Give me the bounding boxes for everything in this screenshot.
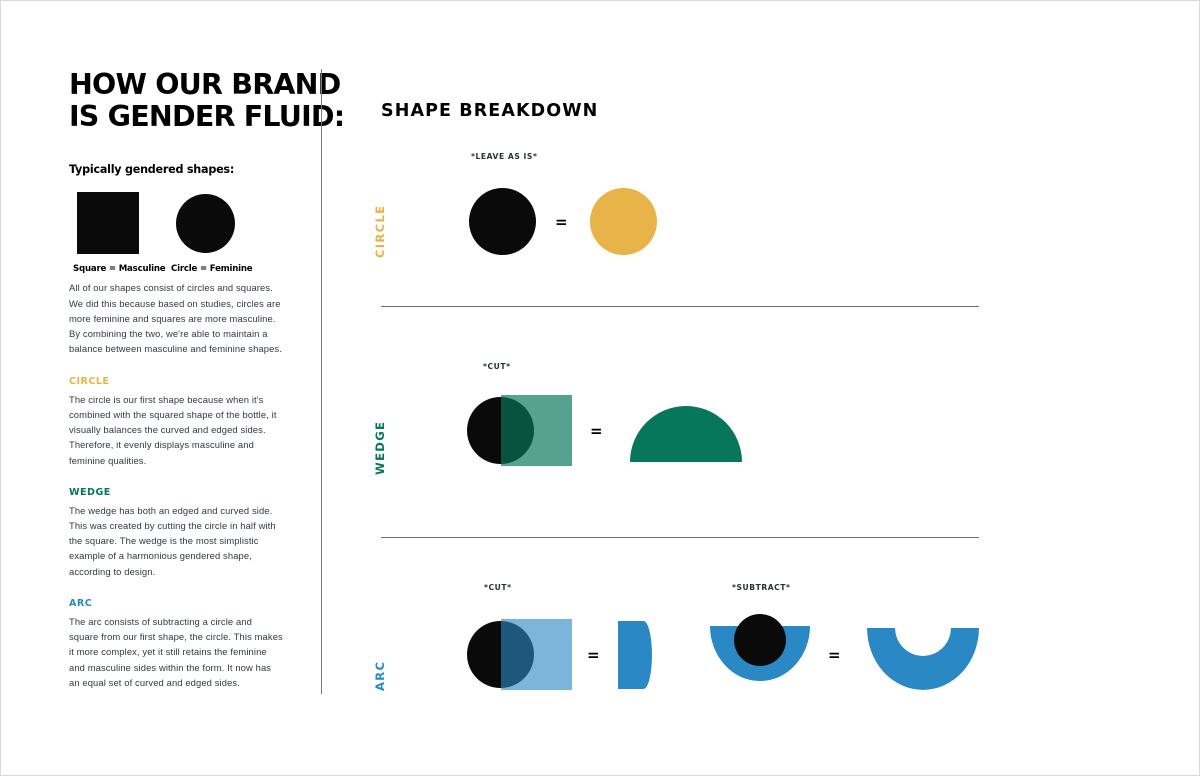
square-swatch-icon <box>77 192 139 254</box>
intro-paragraph: All of our shapes consist of circles and… <box>69 280 284 356</box>
section-heading-wedge: WEDGE <box>69 487 284 498</box>
circle-swatch-label: Circle = Feminine <box>171 264 252 274</box>
row-label-circle: CIRCLE <box>373 205 387 258</box>
row-divider-1 <box>381 306 979 307</box>
arc-cutting-square <box>501 619 572 690</box>
right-column: SHAPE BREAKDOWN <box>381 101 981 121</box>
equals-sign-arc-1: = <box>587 648 600 663</box>
headline-line-1: HOW OUR BRAND <box>69 69 284 101</box>
equals-sign-circle: = <box>555 215 568 230</box>
operation-label-cut-arc: *CUT* <box>484 583 512 592</box>
page-title: HOW OUR BRAND IS GENDER FLUID: <box>69 69 284 133</box>
left-column: HOW OUR BRAND IS GENDER FLUID: Typically… <box>69 69 284 690</box>
headline-line-2: IS GENDER FLUID: <box>69 101 284 133</box>
section-body-circle: The circle is our first shape because wh… <box>69 392 284 468</box>
row-divider-2 <box>381 537 979 538</box>
section-arc: ARC The arc consists of subtracting a ci… <box>69 598 284 690</box>
row-label-arc: ARC <box>373 661 387 691</box>
operation-label-cut-wedge: *CUT* <box>483 362 511 371</box>
arc-half-disc-shape <box>618 621 652 689</box>
circle-swatch-icon <box>176 194 235 253</box>
section-wedge: WEDGE The wedge has both an edged and cu… <box>69 487 284 579</box>
circle-source-shape <box>469 188 536 255</box>
section-heading-arc: ARC <box>69 598 284 609</box>
equals-sign-arc-2: = <box>828 648 841 663</box>
section-body-arc: The arc consists of subtracting a circle… <box>69 614 284 690</box>
section-heading-circle: CIRCLE <box>69 376 284 387</box>
circle-result-shape <box>590 188 657 255</box>
square-swatch-label: Square = Masculine <box>73 264 165 274</box>
arc-result-shape <box>867 628 979 690</box>
column-divider <box>321 69 322 694</box>
shape-breakdown-title: SHAPE BREAKDOWN <box>381 101 981 121</box>
wedge-result-shape <box>630 406 742 462</box>
equals-sign-wedge: = <box>590 424 603 439</box>
wedge-cutting-square <box>501 395 572 466</box>
row-label-wedge: WEDGE <box>373 421 387 475</box>
gendered-shape-swatches: Square = Masculine Circle = Feminine <box>69 192 284 280</box>
arc-subtracted-circle <box>734 614 786 666</box>
operation-label-leave-as-is: *LEAVE AS IS* <box>471 152 537 161</box>
subheading: Typically gendered shapes: <box>69 163 284 176</box>
operation-label-subtract-arc: *SUBTRACT* <box>732 583 791 592</box>
section-body-wedge: The wedge has both an edged and curved s… <box>69 503 284 579</box>
section-circle: CIRCLE The circle is our first shape bec… <box>69 376 284 468</box>
poster-page: HOW OUR BRAND IS GENDER FLUID: Typically… <box>0 0 1200 776</box>
